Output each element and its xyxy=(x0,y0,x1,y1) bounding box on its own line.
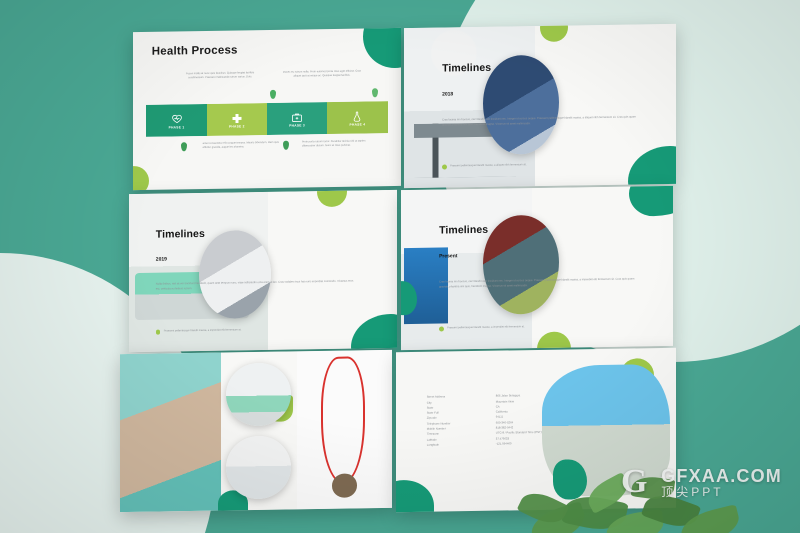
watermark-sub-text: 顶尖PPT xyxy=(661,486,782,499)
slide-title: Health Process xyxy=(152,45,238,58)
phase-segment-4[interactable]: PHASE 4 xyxy=(327,102,387,135)
medical-cross-icon xyxy=(231,111,243,123)
phase-label: PHASE 1 xyxy=(169,125,185,129)
slide-timelines-present[interactable]: Timelines Present Cras lacinia mi rhoncu… xyxy=(401,186,673,350)
pin-marker-bottom-1 xyxy=(181,142,187,151)
slide-subtitle: 2018 xyxy=(442,91,453,97)
quote-text: Praesent pellentesque blandit massa, a a… xyxy=(450,164,527,168)
slide-title: Timelines xyxy=(439,224,488,237)
pin-marker-bottom-2 xyxy=(283,140,289,149)
decor-blob-teal-left xyxy=(396,480,434,513)
phase-description-4: Proin porta rutrum tortor. Curabitur lac… xyxy=(302,139,380,149)
slide-timelines-2018[interactable]: Timelines 2018 Cras lacinia mi rhoncus, … xyxy=(404,24,676,188)
stethoscope-shape xyxy=(321,357,365,484)
phase-label: PHASE 3 xyxy=(289,123,305,127)
quote-accent-bar xyxy=(439,327,444,332)
watermark: G GFXAA.COM 顶尖PPT xyxy=(614,463,782,503)
quote-text: Praesent pellentesque blandit massa, a i… xyxy=(164,328,242,332)
phase-segment-2[interactable]: PHASE 2 xyxy=(207,103,267,136)
slide-health-process[interactable]: Health Process Fusce mollis at nunc quis… xyxy=(133,28,401,190)
phase-description-2: Donec eu rutrum nulla. Proin euismod por… xyxy=(280,70,363,80)
stethoscope-disc xyxy=(332,474,356,498)
slide-gallery[interactable] xyxy=(120,350,392,512)
phase-segment-1[interactable]: PHASE 1 xyxy=(146,104,206,137)
slide-title: Timelines xyxy=(442,62,491,75)
decor-circle-lime xyxy=(133,166,149,190)
phase-segment-3[interactable]: PHASE 3 xyxy=(267,103,327,136)
pin-marker-top-2 xyxy=(372,88,378,97)
flask-icon xyxy=(351,109,363,121)
slide-subtitle: Present xyxy=(439,253,457,259)
phase-label: PHASE 4 xyxy=(350,122,366,126)
decor-circle-teal xyxy=(363,28,401,69)
quote-text: Praesent pellentesque blandit massa, a i… xyxy=(447,326,525,330)
slide-subtitle: 2019 xyxy=(156,257,167,263)
medical-bag-icon xyxy=(291,110,303,122)
slide-title: Timelines xyxy=(156,228,205,241)
watermark-main-text: GFXAA.COM xyxy=(661,467,782,486)
pin-marker-top-1 xyxy=(270,90,276,99)
iv-drip-photo xyxy=(120,353,221,513)
phase-description-3: amet consectetur elit congue tempus. Mau… xyxy=(203,140,281,150)
phase-bar: PHASE 1 PHASE 2 xyxy=(146,102,387,137)
heartbeat-icon xyxy=(171,112,183,124)
phase-description-1: Fusce mollis at nunc quis faucibus. Quis… xyxy=(179,71,262,81)
quote-accent-bar xyxy=(156,329,161,334)
phase-label: PHASE 2 xyxy=(229,124,245,128)
address-key: Longitude xyxy=(427,442,496,448)
quote-accent-bar xyxy=(442,165,447,170)
watermark-logo-icon: G xyxy=(614,463,654,503)
slide-timelines-2019[interactable]: Timelines 2019 Nulla finibus, nisl sit v… xyxy=(129,190,397,352)
